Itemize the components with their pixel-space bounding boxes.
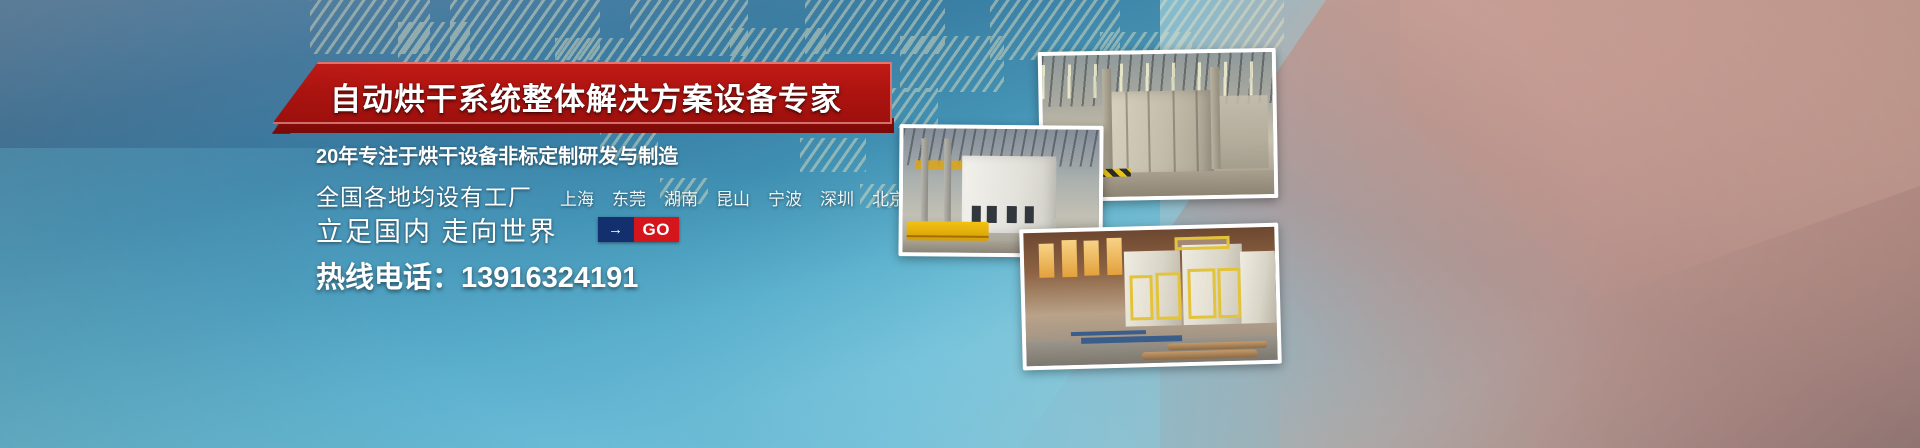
promo-banner: 自动烘干系统整体解决方案设备专家 20年专注于烘干设备非标定制研发与制造 全国各… [0,0,1920,448]
vignette-overlay [0,0,1920,448]
